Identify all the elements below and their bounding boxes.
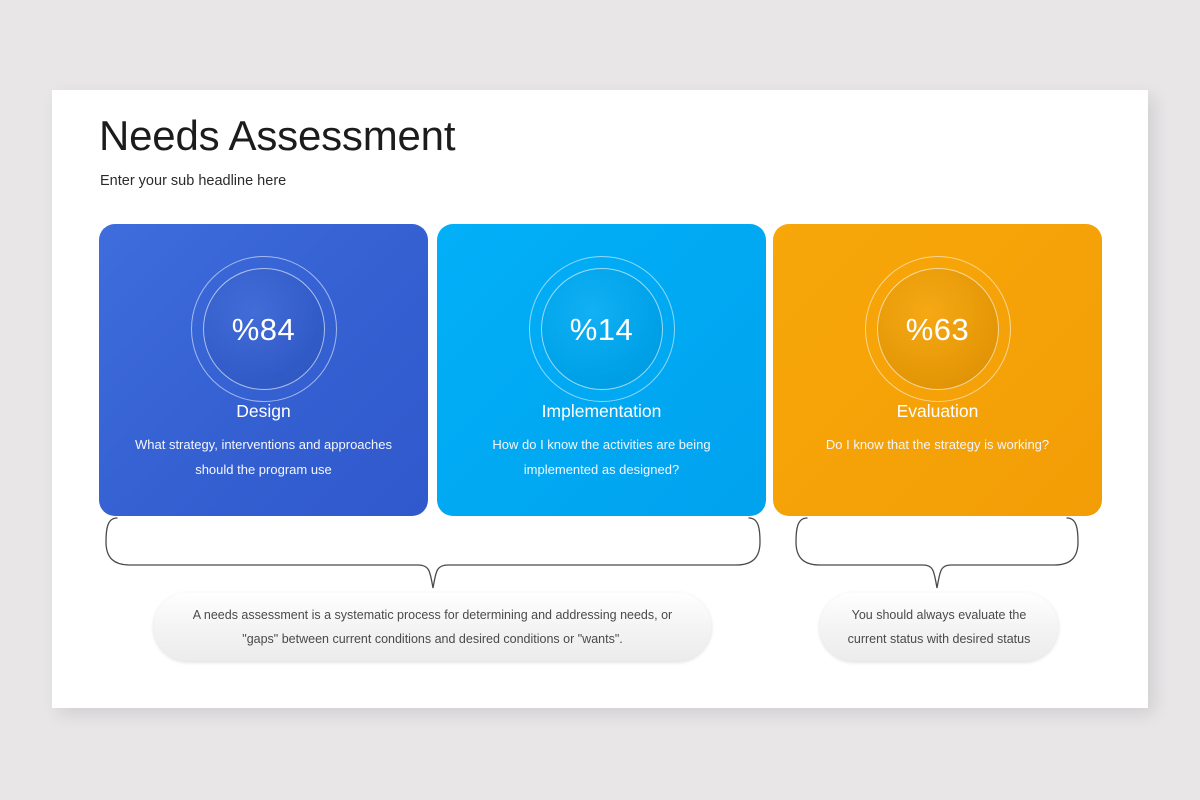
metric-card-evaluation[interactable]: %63 Evaluation Do I know that the strate… xyxy=(773,224,1102,516)
metric-card-title: Evaluation xyxy=(773,401,1102,422)
brace-left-icon xyxy=(106,518,760,588)
metric-card-description: Do I know that the strategy is working? xyxy=(795,432,1080,457)
brace-right-icon xyxy=(796,518,1078,588)
page-subtitle: Enter your sub headline here xyxy=(100,173,286,189)
metric-card-description: How do I know the activities are being i… xyxy=(459,432,744,482)
metric-card-title: Implementation xyxy=(437,401,766,422)
metric-card-implementation[interactable]: %14 Implementation How do I know the act… xyxy=(437,224,766,516)
progress-ring-inner-icon: %63 xyxy=(877,268,999,390)
callout-evaluate-status: You should always evaluate the current s… xyxy=(819,592,1059,662)
metric-percent-value: %14 xyxy=(570,314,634,345)
slide-panel: Needs Assessment Enter your sub headline… xyxy=(52,90,1148,708)
metric-card-title: Design xyxy=(99,401,428,422)
callout-text: A needs assessment is a systematic proce… xyxy=(179,603,686,651)
metric-card-description: What strategy, interventions and approac… xyxy=(121,432,406,482)
metric-percent-value: %63 xyxy=(906,314,970,345)
metric-percent-value: %84 xyxy=(232,314,296,345)
progress-ring-inner-icon: %84 xyxy=(203,268,325,390)
metric-card-design[interactable]: %84 Design What strategy, interventions … xyxy=(99,224,428,516)
progress-ring-inner-icon: %14 xyxy=(541,268,663,390)
callout-needs-assessment: A needs assessment is a systematic proce… xyxy=(153,592,712,662)
page-title: Needs Assessment xyxy=(99,112,455,160)
callout-text: You should always evaluate the current s… xyxy=(845,603,1033,651)
